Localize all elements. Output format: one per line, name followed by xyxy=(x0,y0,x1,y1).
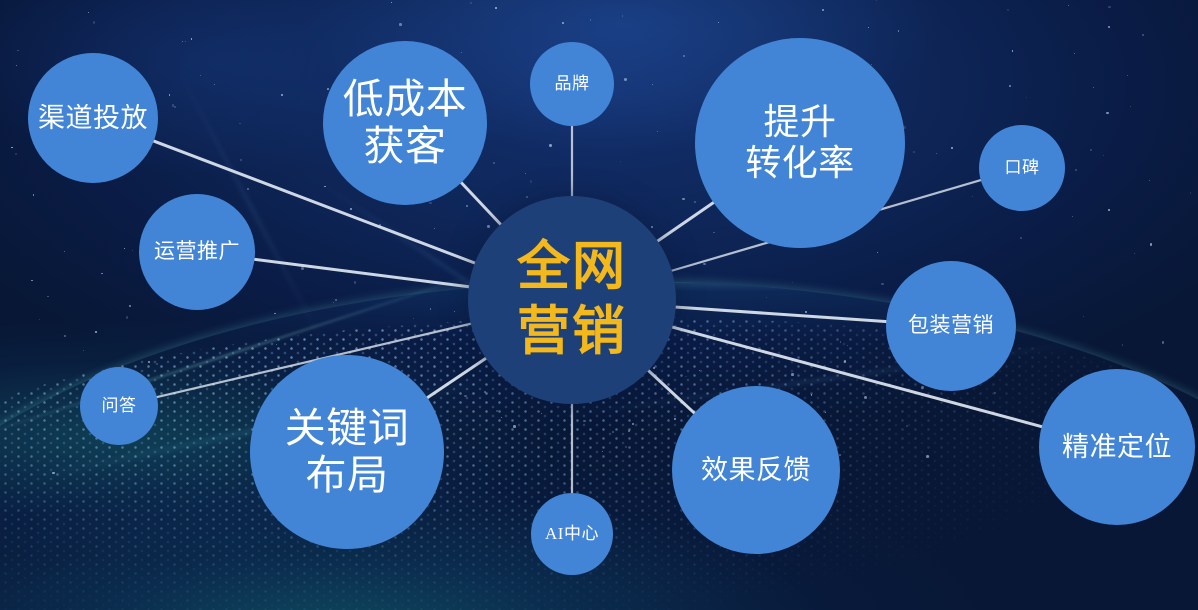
node-label-line1: 关键词 xyxy=(285,405,410,452)
node-label: 包装营销 xyxy=(904,314,998,338)
node-label-line1: AI中心 xyxy=(545,524,599,543)
node-label-line1: 包装营销 xyxy=(908,314,994,338)
node-bao-zhuang-ying-xiao[interactable]: 包装营销 xyxy=(886,261,1016,391)
node-label: 渠道投放 xyxy=(34,103,152,134)
node-label-line2: 营销 xyxy=(517,300,627,365)
node-di-cheng-ben-huo-ke[interactable]: 低成本获客 xyxy=(323,41,487,205)
connector-yun-ying-tui-guang-to-hub xyxy=(254,259,470,287)
node-label-line2: 获客 xyxy=(343,123,468,170)
node-label-line1: 运营推广 xyxy=(154,240,240,264)
node-label: 效果反馈 xyxy=(697,455,815,486)
node-kou-bei[interactable]: 口碑 xyxy=(979,125,1065,211)
node-label-line1: 品牌 xyxy=(555,74,590,93)
node-yun-ying-tui-guang[interactable]: 运营推广 xyxy=(139,194,255,310)
node-wen-da[interactable]: 问答 xyxy=(80,367,158,445)
node-guan-jian-ci-bu-ju[interactable]: 关键词布局 xyxy=(250,355,444,549)
node-ti-sheng-zhuan-hua-lv[interactable]: 提升转化率 xyxy=(695,38,905,248)
node-qu-dao-tou-fang[interactable]: 渠道投放 xyxy=(28,53,158,183)
connector-di-cheng-ben-huo-ke-to-hub xyxy=(461,182,502,225)
node-label: 低成本获客 xyxy=(339,76,472,169)
node-label: 问答 xyxy=(98,396,141,415)
node-label-line1: 低成本 xyxy=(343,76,468,123)
node-label: AI中心 xyxy=(541,524,603,543)
node-label: 关键词布局 xyxy=(281,405,414,498)
node-xiao-guo-fan-kui[interactable]: 效果反馈 xyxy=(672,386,840,554)
node-label: 运营推广 xyxy=(150,240,244,264)
node-ai-zhong-xin[interactable]: AI中心 xyxy=(531,493,613,575)
node-label-line2: 布局 xyxy=(285,452,410,499)
marketing-mindmap-canvas: 全网营销渠道投放运营推广低成本获客品牌提升转化率口碑包装营销精准定位效果反馈AI… xyxy=(0,0,1198,610)
node-label-line1: 提升 xyxy=(745,102,855,143)
node-label-line1: 问答 xyxy=(102,396,137,415)
node-label: 提升转化率 xyxy=(741,102,859,184)
node-jing-zhun-ding-wei[interactable]: 精准定位 xyxy=(1039,369,1195,525)
node-label: 品牌 xyxy=(551,74,594,93)
node-label-line1: 渠道投放 xyxy=(38,103,148,134)
node-label: 精准定位 xyxy=(1058,432,1176,463)
node-label-line1: 效果反馈 xyxy=(701,455,811,486)
node-pin-pai[interactable]: 品牌 xyxy=(530,42,614,126)
node-label-line1: 全网 xyxy=(517,235,627,300)
node-label-line1: 口碑 xyxy=(1005,158,1040,177)
node-label-line1: 精准定位 xyxy=(1062,432,1172,463)
connector-ti-sheng-zhuan-hua-lv-to-hub xyxy=(657,202,715,242)
node-label: 全网营销 xyxy=(513,235,631,364)
node-label: 口碑 xyxy=(1001,158,1044,177)
node-label-line2: 转化率 xyxy=(745,143,855,184)
hub-node-hub[interactable]: 全网营销 xyxy=(468,196,676,404)
